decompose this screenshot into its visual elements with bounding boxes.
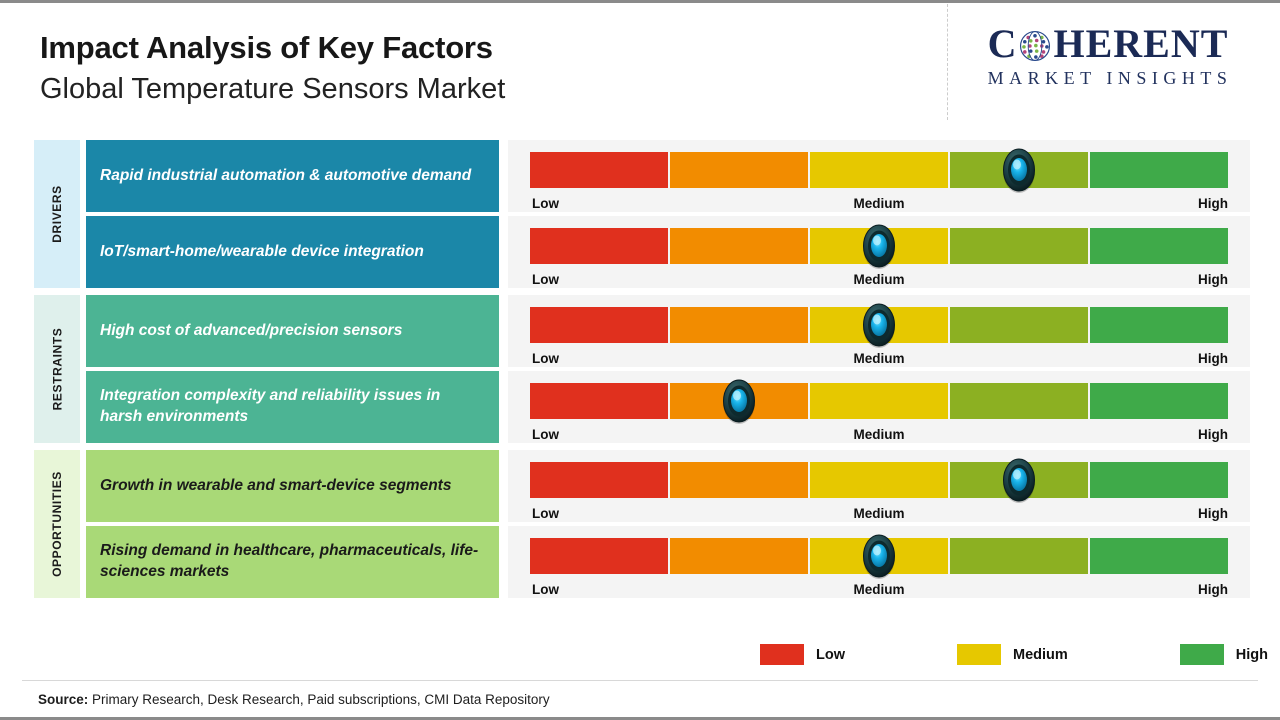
gauge-segment-5	[1090, 462, 1228, 498]
gauge-segment-3	[810, 383, 948, 419]
legend-label: High	[1236, 647, 1268, 663]
company-logo: C HERENT MARKET INSIGHTS	[958, 24, 1258, 89]
logo-word-herent: HERENT	[1053, 24, 1228, 64]
factor-label: Growth in wearable and smart-device segm…	[100, 476, 451, 497]
factor-text-box[interactable]: Rapid industrial automation & automotive…	[86, 140, 499, 212]
gauge-segment-1	[530, 152, 668, 188]
gauge-label-medium: Medium	[853, 582, 904, 597]
gauge-segment-1	[530, 538, 668, 574]
logo-letter-c: C	[988, 24, 1018, 64]
legend-label: Medium	[1013, 647, 1068, 663]
factor-row: Rapid industrial automation & automotive…	[86, 140, 1250, 212]
gauge-label-high: High	[1198, 427, 1228, 442]
legend-swatch-high	[1180, 644, 1224, 665]
gauge-segment-1	[530, 462, 668, 498]
factor-text-box[interactable]: High cost of advanced/precision sensors	[86, 295, 499, 367]
legend-swatch-low	[760, 644, 804, 665]
gauge-segment-5	[1090, 228, 1228, 264]
factor-text-box[interactable]: IoT/smart-home/wearable device integrati…	[86, 216, 499, 288]
factor-label: IoT/smart-home/wearable device integrati…	[100, 242, 424, 263]
legend: LowMediumHigh	[760, 644, 1268, 665]
group-label-text: RESTRAINTS	[50, 328, 64, 411]
title-block: Impact Analysis of Key Factors Global Te…	[40, 30, 505, 106]
source-label: Source:	[38, 692, 88, 707]
gauge-scale-bar	[530, 383, 1228, 419]
gauge-segment-5	[1090, 538, 1228, 574]
gauge-scale-bar	[530, 307, 1228, 343]
legend-label: Low	[816, 647, 845, 663]
factor-label: Rapid industrial automation & automotive…	[100, 166, 471, 187]
impact-group-opportunities: OPPORTUNITIESGrowth in wearable and smar…	[34, 450, 1250, 598]
gauge-scale-bar	[530, 538, 1228, 574]
legend-item: High	[1180, 644, 1268, 665]
logo-tagline: MARKET INSIGHTS	[958, 68, 1258, 89]
gauge-segment-2	[670, 462, 808, 498]
gauge-segment-1	[530, 307, 668, 343]
gauge-tick-labels: LowMediumHigh	[530, 578, 1228, 606]
factor-row: Growth in wearable and smart-device segm…	[86, 450, 1250, 522]
impact-gauge: LowMediumHigh	[508, 450, 1250, 522]
source-text: Primary Research, Desk Research, Paid su…	[88, 692, 549, 707]
gauge-label-low: Low	[532, 351, 559, 366]
gauge-segment-2	[670, 152, 808, 188]
factor-row: High cost of advanced/precision sensors …	[86, 295, 1250, 367]
gauge-tick-labels: LowMediumHigh	[530, 423, 1228, 451]
group-label-restraints: RESTRAINTS	[34, 295, 80, 443]
page-title: Impact Analysis of Key Factors	[40, 30, 505, 66]
gauge-segment-4	[950, 307, 1088, 343]
gauge-label-high: High	[1198, 196, 1228, 211]
gauge-scale-bar	[530, 228, 1228, 264]
factor-text-box[interactable]: Rising demand in healthcare, pharmaceuti…	[86, 526, 499, 598]
gauge-segment-3	[810, 462, 948, 498]
source-note: Source: Primary Research, Desk Research,…	[38, 692, 550, 707]
gauge-label-low: Low	[532, 272, 559, 287]
gauge-label-low: Low	[532, 196, 559, 211]
gauge-label-medium: Medium	[853, 351, 904, 366]
factor-row: Integration complexity and reliability i…	[86, 371, 1250, 443]
gauge-segment-2	[670, 228, 808, 264]
legend-item: Medium	[957, 644, 1068, 665]
group-label-drivers: DRIVERS	[34, 140, 80, 288]
group-rows: High cost of advanced/precision sensors …	[86, 295, 1250, 443]
impact-gauge: LowMediumHigh	[508, 295, 1250, 367]
gauge-segment-3	[810, 538, 948, 574]
gauge-segment-3	[810, 307, 948, 343]
legend-swatch-medium	[957, 644, 1001, 665]
gauge-label-high: High	[1198, 506, 1228, 521]
gauge-segment-2	[670, 538, 808, 574]
gauge-label-high: High	[1198, 272, 1228, 287]
impact-gauge: LowMediumHigh	[508, 526, 1250, 598]
gauge-segment-1	[530, 228, 668, 264]
factor-text-box[interactable]: Integration complexity and reliability i…	[86, 371, 499, 443]
gauge-tick-labels: LowMediumHigh	[530, 268, 1228, 296]
gauge-segment-3	[810, 152, 948, 188]
gauge-scale-bar	[530, 462, 1228, 498]
gauge-label-low: Low	[532, 506, 559, 521]
factor-label: High cost of advanced/precision sensors	[100, 321, 402, 342]
footer-divider	[22, 680, 1258, 681]
gauge-label-medium: Medium	[853, 427, 904, 442]
impact-matrix: DRIVERSRapid industrial automation & aut…	[34, 140, 1250, 605]
gauge-segment-4	[950, 383, 1088, 419]
factor-row: IoT/smart-home/wearable device integrati…	[86, 216, 1250, 288]
gauge-segment-5	[1090, 383, 1228, 419]
impact-gauge: LowMediumHigh	[508, 371, 1250, 443]
gauge-label-low: Low	[532, 582, 559, 597]
gauge-segment-4	[950, 152, 1088, 188]
group-label-text: DRIVERS	[50, 185, 64, 243]
gauge-segment-1	[530, 383, 668, 419]
gauge-label-medium: Medium	[853, 272, 904, 287]
impact-gauge: LowMediumHigh	[508, 216, 1250, 288]
page-subtitle: Global Temperature Sensors Market	[40, 72, 505, 107]
gauge-segment-4	[950, 228, 1088, 264]
gauge-segment-4	[950, 538, 1088, 574]
factor-label: Rising demand in healthcare, pharmaceuti…	[100, 541, 485, 583]
gauge-segment-2	[670, 383, 808, 419]
globe-dots-icon	[1018, 29, 1052, 63]
logo-wordmark: C HERENT	[958, 24, 1258, 64]
group-label-opportunities: OPPORTUNITIES	[34, 450, 80, 598]
gauge-label-high: High	[1198, 351, 1228, 366]
page-header: Impact Analysis of Key Factors Global Te…	[0, 0, 1280, 132]
legend-item: Low	[760, 644, 845, 665]
impact-group-drivers: DRIVERSRapid industrial automation & aut…	[34, 140, 1250, 288]
factor-text-box[interactable]: Growth in wearable and smart-device segm…	[86, 450, 499, 522]
factor-label: Integration complexity and reliability i…	[100, 386, 485, 428]
gauge-label-medium: Medium	[853, 196, 904, 211]
impact-group-restraints: RESTRAINTSHigh cost of advanced/precisio…	[34, 295, 1250, 443]
group-label-text: OPPORTUNITIES	[50, 471, 64, 577]
group-rows: Rapid industrial automation & automotive…	[86, 140, 1250, 288]
factor-row: Rising demand in healthcare, pharmaceuti…	[86, 526, 1250, 598]
gauge-segment-5	[1090, 152, 1228, 188]
gauge-segment-3	[810, 228, 948, 264]
gauge-segment-4	[950, 462, 1088, 498]
gauge-segment-2	[670, 307, 808, 343]
header-dashed-divider	[947, 4, 948, 120]
gauge-label-low: Low	[532, 427, 559, 442]
gauge-label-medium: Medium	[853, 506, 904, 521]
gauge-scale-bar	[530, 152, 1228, 188]
gauge-segment-5	[1090, 307, 1228, 343]
group-rows: Growth in wearable and smart-device segm…	[86, 450, 1250, 598]
impact-gauge: LowMediumHigh	[508, 140, 1250, 212]
gauge-label-high: High	[1198, 582, 1228, 597]
